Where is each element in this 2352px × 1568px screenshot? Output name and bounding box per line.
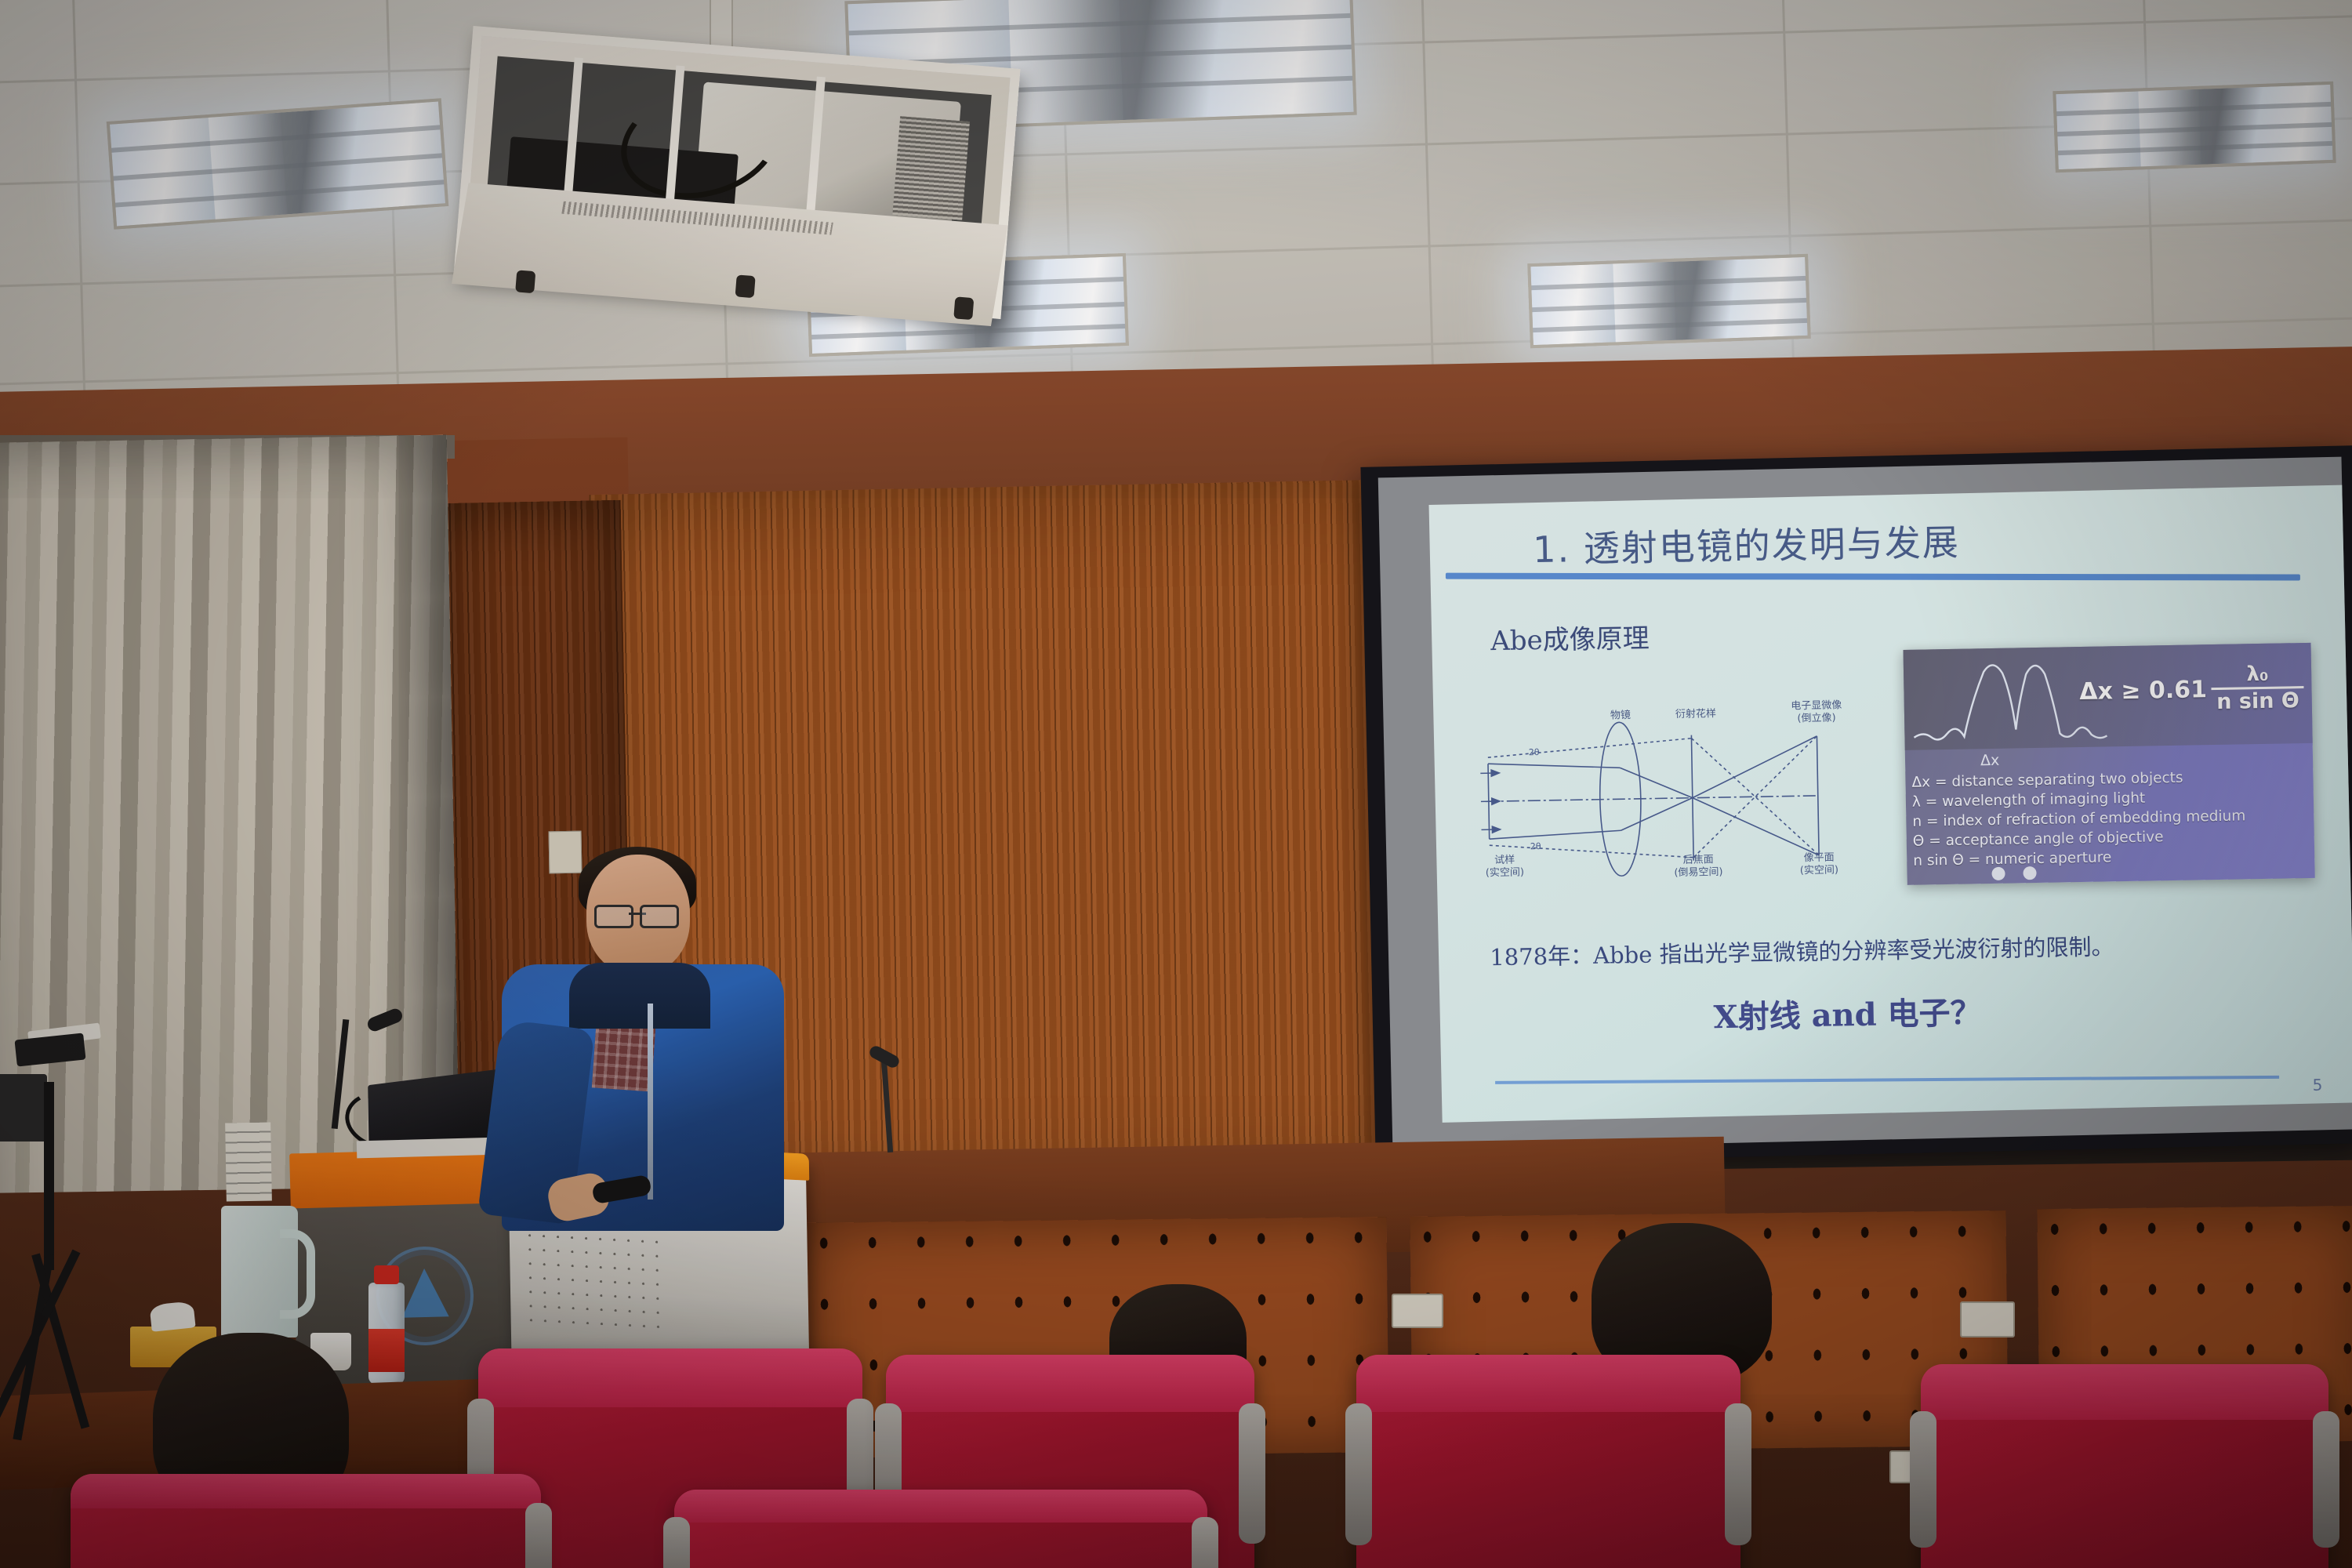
wall-outlet-box[interactable] — [1960, 1301, 2015, 1338]
projected-slide: 1. 透射电镜的发明与发展 Abe成像原理 — [1429, 485, 2352, 1123]
svg-text:2θ: 2θ — [1529, 747, 1540, 757]
svg-text:2θ: 2θ — [1530, 841, 1541, 851]
water-bottle[interactable] — [368, 1283, 405, 1385]
formula-numerator: λ₀ — [2241, 664, 2273, 686]
formula-legend: Δx = distance separating two objects λ =… — [1911, 767, 2310, 872]
presenter-jacket-collar — [569, 963, 710, 1029]
title-underline-rule — [1446, 573, 2300, 581]
dx-caption: Δx — [1980, 752, 2000, 769]
posted-notice — [225, 1123, 272, 1202]
formula-denominator: n sin Θ — [2212, 690, 2304, 713]
projection-screen: 1. 透射电镜的发明与发展 Abe成像原理 — [1360, 445, 2352, 1164]
slide-bottom-rule — [1495, 1076, 2279, 1084]
diagram-label-objective: 物镜 — [1597, 710, 1644, 723]
ceiling-light-fixture — [2053, 82, 2336, 172]
resolution-formula: Δx ≥ 0.61 λ₀ n sin Θ — [2079, 663, 2304, 717]
auditorium-seat[interactable] — [1921, 1364, 2328, 1568]
lecture-hall-photo: 1. 透射电镜的发明与发展 Abe成像原理 — [0, 0, 2352, 1568]
resolution-formula-inset: Δx ≥ 0.61 λ₀ n sin Θ Δx Δx = distance se… — [1904, 643, 2315, 885]
diagram-label-em-image: 电子显微像 (倒立像) — [1773, 699, 1861, 726]
wall-outlet-box[interactable] — [1392, 1294, 1443, 1328]
auditorium-seat[interactable] — [1356, 1355, 1740, 1568]
auditorium-seat[interactable] — [71, 1474, 541, 1568]
slide-statement-1878: 1878年：Abbe 指出光学显微镜的分辨率受光波衍射的限制。 — [1490, 928, 2114, 972]
ceiling-light-fixture — [1527, 254, 1811, 348]
projector-cage — [454, 26, 1021, 319]
eyeglasses-icon — [594, 905, 679, 925]
diagram-label-diffraction: 衍射花样 — [1666, 708, 1726, 722]
diagram-label-image-plane: 像平面 (实空间) — [1783, 851, 1856, 878]
jacket-zipper — [648, 1004, 653, 1200]
auditorium-seat[interactable] — [674, 1490, 1207, 1568]
abbe-imaging-diagram: 2θ 2θ 试样 (实空间) 物镜 衍射花样 — [1479, 700, 1890, 895]
camera-body — [0, 1074, 47, 1142]
screen-surface: 1. 透射电镜的发明与发展 Abe成像原理 — [1378, 457, 2352, 1151]
tripod-center-column — [44, 1082, 54, 1270]
slide-page-number: 5 — [2312, 1076, 2322, 1094]
slide-section-label: Abe成像原理 — [1490, 617, 1650, 659]
projector-vent-icon — [893, 116, 970, 220]
slide-title: 1. 透射电镜的发明与发展 — [1533, 514, 1961, 573]
diagram-label-back-focal: 后焦面 (倒易空间) — [1661, 854, 1737, 880]
presenter — [494, 847, 792, 1223]
formula-lhs: Δx ≥ 0.61 — [2079, 676, 2207, 706]
diagram-label-specimen: 试样 (实空间) — [1475, 854, 1534, 880]
slide-question-line: X射线 and 电子？ — [1713, 987, 1982, 1037]
thermos-pitcher[interactable] — [221, 1206, 298, 1338]
